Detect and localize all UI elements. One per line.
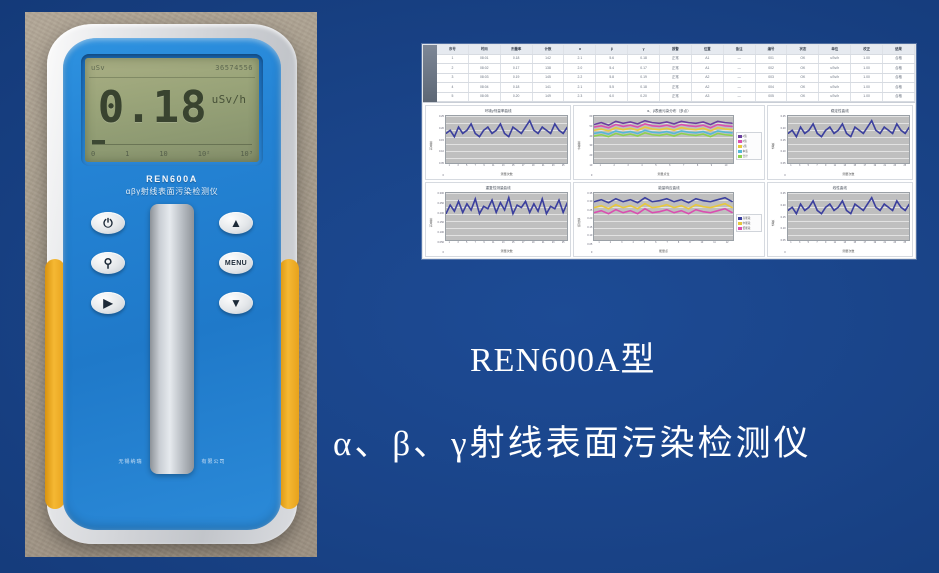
chart-y-tick: 0.05 (776, 239, 786, 242)
up-key[interactable]: ▲ (219, 212, 253, 234)
table-cell: 5.5 (596, 83, 628, 92)
chart-x-tick: 23 (552, 164, 555, 171)
table-cell: 004 (756, 83, 788, 92)
chart-body: 计数率605040302010012345678910测量点位α值β值γ值本底合… (576, 115, 761, 177)
table-cell: — (724, 55, 756, 64)
chart-x-tick: 1 (790, 164, 791, 171)
chevron-up-icon: ▲ (230, 217, 242, 229)
down-key[interactable]: ▼ (219, 292, 253, 314)
chart-card: α、β表面污染分布（多点）计数率605040302010012345678910… (573, 105, 764, 180)
table-row: 208:020.171382.05.40.17正常A1—002OKuSv/h1.… (437, 64, 915, 74)
chart-y-ticks: 0.350.300.250.200.150.100.050 (582, 192, 593, 254)
table-header-cell: 结果 (883, 45, 915, 54)
lcd-reading: 0.18 uSv/h (85, 79, 259, 137)
chart-x-axis-label: 测量次数 (445, 248, 568, 254)
table-header-cell: 单位 (819, 45, 851, 54)
table-cell: 1 (437, 55, 469, 64)
chart-title: 重复性测量曲线 (428, 185, 568, 192)
chart-plot-wrap: 135791113151719212325测量次数 (787, 192, 910, 254)
chart-plot-wrap: 135791113151719212325测量次数 (787, 115, 910, 177)
legend-label: 合计 (743, 154, 748, 158)
table-cell: 138 (533, 64, 565, 73)
table-row-header-gutter (423, 45, 437, 102)
legend-swatch (738, 217, 742, 220)
chart-x-tick: 11 (713, 241, 715, 248)
table-cell: 合格 (883, 93, 915, 102)
lcd-scale-tick: 0 (91, 150, 95, 158)
table-cell: 2.3 (564, 93, 596, 102)
table-cell: — (724, 93, 756, 102)
chart-y-tick: 0.15 (776, 139, 786, 142)
table-cell: 正常 (660, 93, 692, 102)
lcd-scale-labels: 011010²10³ (91, 148, 253, 160)
table-cell: 08:04 (469, 83, 501, 92)
chart-x-tick: 17 (522, 241, 525, 248)
chart-legend-item: 中能段 (738, 221, 760, 225)
table-cell: 正常 (660, 55, 692, 64)
lcd-status-right: 36574556 (215, 64, 253, 72)
lcd-unit: uSv/h (212, 93, 247, 106)
key-lock-key[interactable]: ⚲ (91, 252, 125, 274)
software-dashboard-screenshot: 序号时间剂量率计数αβγ报警位置备注编号状态单位校正结果108:010.1814… (422, 44, 916, 259)
chart-y-tick: 50 (582, 125, 592, 128)
chart-y-tick: 0.15 (582, 226, 592, 229)
table-cell: 5.4 (596, 64, 628, 73)
lcd-bargraph (92, 140, 252, 145)
chart-y-axis-label: 剂量率 (428, 115, 434, 177)
table-row: 408:040.181412.15.50.18正常A2—004OKuSv/h1.… (437, 83, 915, 93)
chart-plot-area (787, 115, 910, 164)
chart-x-tick: 13 (843, 164, 846, 171)
menu-key[interactable]: MENU (219, 252, 253, 274)
chart-x-tick: 10 (725, 164, 728, 171)
device-footer-text: 无锡纳瑞 有限公司 (63, 458, 281, 465)
chart-plot-area (787, 192, 910, 241)
table-cell: uSv/h (819, 93, 851, 102)
legend-label: γ值 (743, 144, 747, 148)
chart-x-tick: 5 (466, 241, 467, 248)
chart-legend-item: α值 (738, 134, 760, 138)
chart-y-tick: 0 (582, 174, 592, 177)
device-chinese-label: αβγ射线表面污染检测仪 (63, 186, 281, 197)
table-cell: 5.6 (596, 55, 628, 64)
chart-x-tick: 12 (726, 241, 729, 248)
table-cell: 1.00 (851, 74, 883, 83)
chart-title: 能量响应曲线 (576, 185, 761, 192)
chart-body: 响应值0.350.300.250.200.150.100.05012345678… (576, 192, 761, 254)
chart-legend: 高能段中能段低能段 (736, 214, 762, 232)
table-cell: 2 (437, 64, 469, 73)
table-cell: 08:05 (469, 93, 501, 102)
chart-x-tick: 9 (483, 164, 484, 171)
play-icon: ▶ (103, 297, 112, 309)
chart-y-tick: 0.20 (776, 204, 786, 207)
legend-label: 本底 (743, 149, 748, 153)
chart-y-tick: 20 (582, 154, 592, 157)
chart-x-tick: 1 (449, 241, 450, 248)
chart-x-tick: 25 (562, 241, 565, 248)
legend-swatch (738, 135, 742, 138)
legend-label: 高能段 (743, 216, 751, 220)
table-cell: 正常 (660, 64, 692, 73)
chart-x-tick: 11 (492, 164, 494, 171)
table-cell: 2.1 (564, 55, 596, 64)
chart-x-axis-label: 测量次数 (787, 248, 910, 254)
chart-x-tick: 13 (502, 164, 505, 171)
table-cell: 合格 (883, 55, 915, 64)
chart-x-tick: 7 (475, 164, 476, 171)
table-cell: — (724, 74, 756, 83)
table-cell: 0.19 (501, 74, 533, 83)
chart-x-tick: 17 (863, 164, 866, 171)
chart-y-tick: 30 (582, 144, 592, 147)
lcd-scale-tick: 10³ (240, 150, 253, 158)
chart-x-tick: 15 (853, 241, 856, 248)
table-cell: 149 (533, 93, 565, 102)
table-cell: 08:02 (469, 64, 501, 73)
chart-y-ticks: 0.250.200.150.100.050 (776, 115, 787, 177)
chart-x-tick: 2 (614, 164, 615, 171)
chart-x-ticks: 123456789101112 (593, 241, 733, 248)
chart-x-tick: 19 (532, 164, 535, 171)
table-cell: A2 (692, 83, 724, 92)
table-header-row: 序号时间剂量率计数αβγ报警位置备注编号状态单位校正结果 (437, 45, 915, 55)
lcd-status-bar: uSv 36574556 (91, 61, 253, 74)
chart-y-tick: 0.250 (434, 202, 444, 205)
chart-y-tick: 0.25 (582, 209, 592, 212)
chart-row: 环境γ剂量率曲线剂量率0.250.200.150.100.05013579111… (425, 105, 913, 180)
chart-x-axis-label: 测量点位 (593, 171, 733, 177)
chart-y-tick: 0.10 (434, 150, 444, 153)
chart-x-tick: 21 (883, 241, 886, 248)
legend-swatch (738, 150, 742, 153)
legend-swatch (738, 222, 742, 225)
table-cell: 001 (756, 55, 788, 64)
chart-x-tick: 19 (532, 241, 535, 248)
table-cell: 2.0 (564, 64, 596, 73)
lcd-bargraph-track (92, 140, 252, 145)
slide-root: uSv 36574556 0.18 uSv/h 011010²10³ (0, 0, 939, 573)
chart-x-tick: 25 (562, 164, 565, 171)
table-cell: 1.00 (851, 83, 883, 92)
chart-legend-item: 高能段 (738, 216, 760, 220)
chart-y-ticks: 0.3000.2500.2000.1500.1000.0500 (434, 192, 445, 254)
lcd-bargraph-fill (92, 140, 105, 144)
chart-y-ticks: 0.250.200.150.100.050 (776, 192, 787, 254)
table-header-cell: 剂量率 (501, 45, 533, 54)
table-row: 508:050.201492.36.00.20正常A3—005OKuSv/h1.… (437, 93, 915, 103)
chart-x-tick: 25 (903, 164, 906, 171)
table-row: 308:030.191452.25.80.19正常A2—003OKuSv/h1.… (437, 74, 915, 84)
chart-x-tick: 1 (598, 241, 599, 248)
chart-y-tick: 0 (434, 174, 444, 177)
chart-x-tick: 11 (834, 241, 836, 248)
chart-x-axis-label: 测量次数 (787, 171, 910, 177)
chart-y-tick: 0.20 (776, 127, 786, 130)
chart-body: 读数0.250.200.150.100.05013579111315171921… (770, 115, 910, 177)
table-cell: uSv/h (819, 55, 851, 64)
chart-y-tick: 0.050 (434, 241, 444, 244)
table-cell: A1 (692, 64, 724, 73)
chart-y-tick: 0.05 (582, 243, 592, 246)
table-cell: 0.20 (628, 93, 660, 102)
chart-y-axis-label: 计数率 (576, 115, 582, 177)
table-cell: 0.17 (501, 64, 533, 73)
chart-title: 稳定性曲线 (770, 108, 910, 115)
legend-swatch (738, 227, 742, 230)
chart-legend: α值β值γ值本底合计 (736, 132, 762, 160)
chart-x-tick: 5 (655, 164, 656, 171)
chart-legend-item: 合计 (738, 154, 760, 158)
chart-x-tick: 3 (621, 241, 622, 248)
data-table: 序号时间剂量率计数αβγ报警位置备注编号状态单位校正结果108:010.1814… (423, 45, 915, 103)
table-cell: A2 (692, 74, 724, 83)
table-row: 108:010.181422.15.60.18正常A1—001OKuSv/h1.… (437, 55, 915, 65)
legend-swatch (738, 145, 742, 148)
chart-x-tick: 3 (457, 241, 458, 248)
chart-x-tick: 5 (808, 241, 809, 248)
chart-x-tick: 9 (689, 241, 690, 248)
chart-x-tick: 1 (449, 164, 450, 171)
chart-plot-wrap: 12345678910测量点位 (593, 115, 733, 177)
chart-x-axis-label: 能量点 (593, 248, 733, 254)
chart-y-tick: 0.15 (776, 216, 786, 219)
table-header-cell: 时间 (469, 45, 501, 54)
chart-y-tick: 0.200 (434, 212, 444, 215)
chart-x-tick: 25 (903, 241, 906, 248)
table-cell: 0.18 (628, 83, 660, 92)
chart-x-tick: 7 (667, 241, 668, 248)
chart-x-tick: 15 (853, 164, 856, 171)
chart-x-tick: 2 (610, 241, 611, 248)
chart-legend-item: 低能段 (738, 226, 760, 230)
chart-y-tick: 0.15 (434, 139, 444, 142)
chart-y-tick: 0.35 (582, 192, 592, 195)
table-header-cell: β (596, 45, 628, 54)
chart-legend-item: β值 (738, 139, 760, 143)
chart-card: 重复性测量曲线剂量率0.3000.2500.2000.1500.1000.050… (425, 182, 571, 257)
chart-card: 稳定性曲线读数0.250.200.150.100.050135791113151… (767, 105, 913, 180)
table-cell: 正常 (660, 83, 692, 92)
play-key[interactable]: ▶ (91, 292, 125, 314)
chart-y-tick: 0.25 (434, 115, 444, 118)
chart-x-tick: 15 (512, 241, 515, 248)
table-cell: 003 (756, 74, 788, 83)
chart-y-tick: 0.10 (776, 150, 786, 153)
table-cell: 0.18 (628, 55, 660, 64)
chart-x-tick: 23 (893, 164, 896, 171)
chart-x-tick: 5 (808, 164, 809, 171)
table-cell: 合格 (883, 74, 915, 83)
table-cell: 142 (533, 55, 565, 64)
chart-y-axis-label: 读数 (770, 192, 776, 254)
device-keypad: ⏻ ▲ ⚲ MENU ▶ ▼ (63, 210, 281, 330)
table-cell: uSv/h (819, 83, 851, 92)
chart-x-tick: 9 (483, 241, 484, 248)
table-cell: 合格 (883, 64, 915, 73)
power-icon: ⏻ (103, 217, 113, 229)
chart-x-tick: 1 (790, 241, 791, 248)
table-cell: — (724, 83, 756, 92)
lcd-value: 0.18 (98, 86, 208, 130)
legend-label: α值 (743, 134, 747, 138)
product-subtitle: α、β、γ射线表面污染检测仪 (333, 415, 812, 466)
table-cell: 2.2 (564, 74, 596, 83)
table-cell: 145 (533, 74, 565, 83)
chart-y-axis-label: 响应值 (576, 192, 582, 254)
table-cell: 5.8 (596, 74, 628, 83)
table-header-cell: 状态 (787, 45, 819, 54)
chart-x-tick: 10 (701, 241, 704, 248)
chart-y-tick: 0.100 (434, 231, 444, 234)
chart-card: 能量响应曲线响应值0.350.300.250.200.150.100.05012… (573, 182, 764, 257)
chart-y-ticks: 0.250.200.150.100.050 (434, 115, 445, 177)
footer-right: 有限公司 (201, 458, 225, 465)
table-header-cell: 备注 (724, 45, 756, 54)
chart-body: 剂量率0.250.200.150.100.0501357911131517192… (428, 115, 568, 177)
chart-y-tick: 0.05 (434, 162, 444, 165)
chart-x-tick: 3 (457, 164, 458, 171)
chart-y-ticks: 6050403020100 (582, 115, 593, 177)
table-cell: 6.0 (596, 93, 628, 102)
chart-x-tick: 15 (512, 164, 515, 171)
lcd-bezel: uSv 36574556 0.18 uSv/h 011010²10³ (81, 54, 263, 166)
chart-title: α、β表面污染分布（多点） (576, 108, 761, 115)
table-header-cell: 校正 (851, 45, 883, 54)
table-cell: 2.1 (564, 83, 596, 92)
lcd-scale-tick: 10 (159, 150, 167, 158)
chart-x-ticks: 12345678910 (593, 164, 733, 171)
chart-y-tick: 0.20 (582, 217, 592, 220)
detector-device: uSv 36574556 0.18 uSv/h 011010²10³ (47, 24, 297, 544)
table-cell: 1.00 (851, 55, 883, 64)
table-header-cell: 报警 (660, 45, 692, 54)
lcd-scale-tick: 10² (198, 150, 211, 158)
table-cell: 正常 (660, 74, 692, 83)
table-cell: 0.18 (501, 55, 533, 64)
table-cell: 1.00 (851, 93, 883, 102)
table-cell: A3 (692, 93, 724, 102)
chart-body: 剂量率0.3000.2500.2000.1500.1000.0500135791… (428, 192, 568, 254)
chart-x-tick: 9 (825, 164, 826, 171)
chart-x-tick: 21 (542, 164, 545, 171)
chart-plot-wrap: 135791113151719212325测量次数 (445, 115, 568, 177)
chart-x-tick: 21 (542, 241, 545, 248)
chart-x-ticks: 135791113151719212325 (787, 164, 910, 171)
product-title: REN600A型 (470, 332, 656, 381)
table-cell: 0.18 (501, 83, 533, 92)
table-cell: — (724, 64, 756, 73)
table-cell: OK (787, 93, 819, 102)
key-icon: ⚲ (104, 257, 113, 269)
chart-y-tick: 40 (582, 135, 592, 138)
chart-card: 线性曲线读数0.250.200.150.100.0501357911131517… (767, 182, 913, 257)
chart-y-tick: 10 (582, 164, 592, 167)
device-faceplate: uSv 36574556 0.18 uSv/h 011010²10³ (63, 38, 281, 530)
chart-x-tick: 19 (873, 241, 876, 248)
table-cell: 0.20 (501, 93, 533, 102)
chart-title: 线性曲线 (770, 185, 910, 192)
table-cell: 005 (756, 93, 788, 102)
chart-x-tick: 13 (502, 241, 505, 248)
product-photo: uSv 36574556 0.18 uSv/h 011010²10³ (25, 12, 317, 557)
chart-x-tick: 3 (627, 164, 628, 171)
chart-x-tick: 11 (492, 241, 494, 248)
chart-plot-area (445, 115, 568, 164)
legend-swatch (738, 140, 742, 143)
table-header-cell: 序号 (437, 45, 469, 54)
table-cell: uSv/h (819, 74, 851, 83)
lcd-scale-tick: 1 (125, 150, 129, 158)
chart-x-tick: 6 (669, 164, 670, 171)
chart-y-tick: 0.10 (582, 234, 592, 237)
chart-plot-wrap: 123456789101112能量点 (593, 192, 733, 254)
chart-card: 环境γ剂量率曲线剂量率0.250.200.150.100.05013579111… (425, 105, 571, 180)
table-cell: 08:01 (469, 55, 501, 64)
chart-row: 重复性测量曲线剂量率0.3000.2500.2000.1500.1000.050… (425, 182, 913, 257)
table-header-cell: 编号 (756, 45, 788, 54)
chart-y-tick: 0.150 (434, 221, 444, 224)
chart-x-tick: 9 (711, 164, 712, 171)
chart-plot-area (593, 115, 733, 164)
chart-x-tick: 3 (799, 241, 800, 248)
chart-legend-item: γ值 (738, 144, 760, 148)
chart-x-ticks: 135791113151719212325 (445, 164, 568, 171)
chart-x-tick: 7 (683, 164, 684, 171)
chart-x-tick: 5 (466, 164, 467, 171)
table-cell: uSv/h (819, 64, 851, 73)
chart-x-tick: 7 (475, 241, 476, 248)
chart-x-tick: 1 (600, 164, 601, 171)
table-cell: OK (787, 64, 819, 73)
chart-x-tick: 19 (873, 164, 876, 171)
table-cell: 3 (437, 74, 469, 83)
table-header-cell: 计数 (533, 45, 565, 54)
chart-x-tick: 7 (816, 164, 817, 171)
chevron-down-icon: ▼ (230, 297, 242, 309)
lcd-screen: uSv 36574556 0.18 uSv/h 011010²10³ (85, 58, 259, 162)
chart-plot-area (593, 192, 733, 241)
table-cell: 0.17 (628, 64, 660, 73)
grip-left (45, 259, 65, 509)
table-cell: OK (787, 74, 819, 83)
lcd-divider (89, 77, 255, 78)
chart-x-tick: 17 (522, 164, 525, 171)
table-cell: 0.19 (628, 74, 660, 83)
chart-x-tick: 8 (678, 241, 679, 248)
chart-y-axis-label: 读数 (770, 115, 776, 177)
chart-legend-item: 本底 (738, 149, 760, 153)
chart-x-tick: 6 (655, 241, 656, 248)
chart-x-tick: 7 (816, 241, 817, 248)
chart-plot-wrap: 135791113151719212325测量次数 (445, 192, 568, 254)
chart-body: 读数0.250.200.150.100.05013579111315171921… (770, 192, 910, 254)
chart-x-tick: 5 (644, 241, 645, 248)
chart-x-tick: 11 (834, 164, 836, 171)
table-cell: 合格 (883, 83, 915, 92)
chart-y-tick: 0.20 (434, 127, 444, 130)
chart-plot-area (445, 192, 568, 241)
table-cell: 141 (533, 83, 565, 92)
chart-x-tick: 21 (883, 164, 886, 171)
chart-x-tick: 8 (697, 164, 698, 171)
power-key[interactable]: ⏻ (91, 212, 125, 234)
legend-swatch (738, 155, 742, 158)
device-handle (150, 204, 194, 474)
chart-y-tick: 60 (582, 115, 592, 118)
table-cell: OK (787, 83, 819, 92)
table-header-cell: 位置 (692, 45, 724, 54)
